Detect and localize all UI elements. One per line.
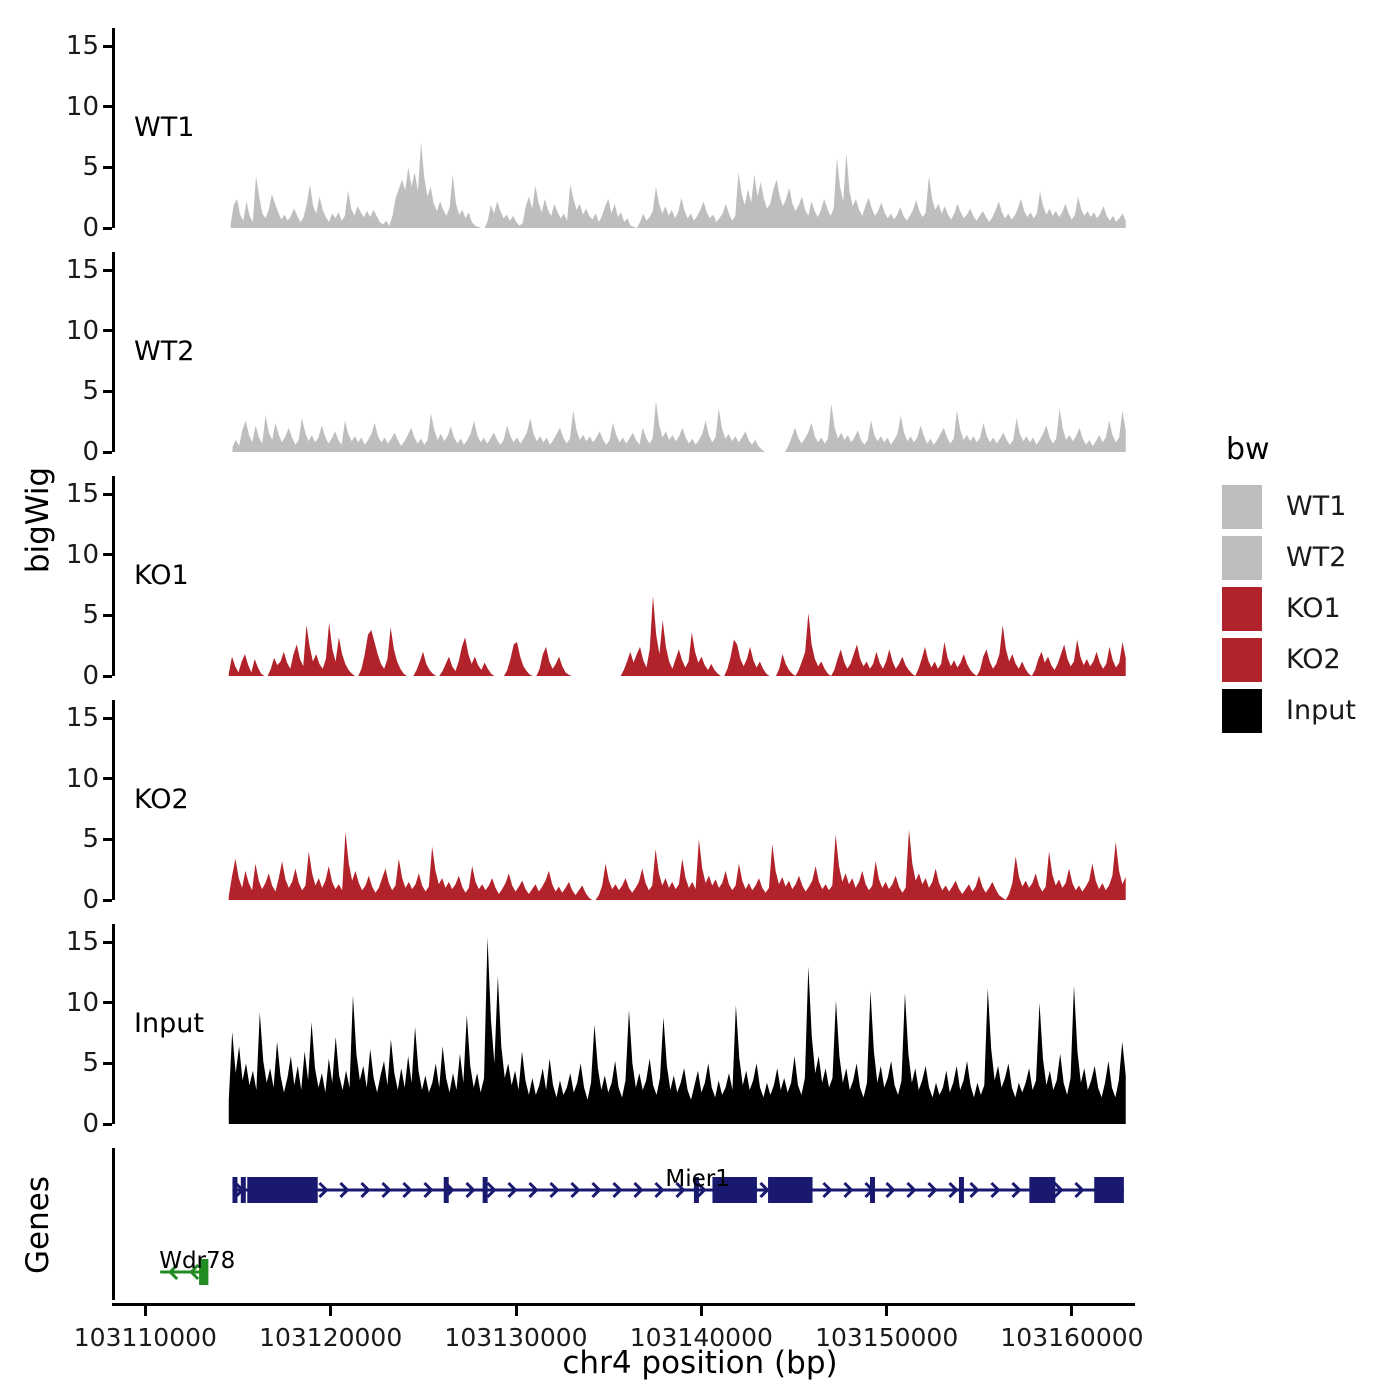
y-tick-label: 10 [66,542,99,568]
gene-label-mier1: Mier1 [665,1166,729,1192]
gene-exon [768,1177,812,1203]
x-tick [329,1306,332,1316]
y-tick-label: 5 [82,154,99,180]
legend-label: KO1 [1286,593,1341,624]
y-tick [103,553,112,556]
x-tick [885,1306,888,1316]
y-tick-label: 5 [82,826,99,852]
signal-area-wt2 [112,252,1135,452]
x-axis-line [112,1303,1135,1306]
genome-browser-figure: bigWig Genes 051015WT1051015WT2051015KO1… [0,0,1400,1400]
y-tick-label: 10 [66,990,99,1016]
y-tick [103,493,112,496]
y-tick-label: 0 [82,887,99,913]
y-tick [103,717,112,720]
signal-area-ko1 [112,476,1135,676]
signal-area-wt1 [112,28,1135,228]
y-tick [103,838,112,841]
gene-exon [870,1177,875,1203]
gene-exon [247,1177,317,1203]
track-panel-wt2: 051015WT2 [112,252,1135,452]
y-tick-label: 15 [66,929,99,955]
legend: bw WT1WT2KO1KO2Input [1222,432,1356,736]
legend-color-swatch [1222,638,1262,682]
legend-label: Input [1286,695,1356,726]
legend-item-wt1[interactable]: WT1 [1222,481,1356,532]
gene-exon [241,1177,246,1203]
y-tick [103,329,112,332]
x-tick [700,1306,703,1316]
legend-label: KO2 [1286,644,1341,675]
y-tick [103,941,112,944]
y-tick [103,451,112,454]
y-tick [103,1001,112,1004]
track-panel-wt1: 051015WT1 [112,28,1135,228]
y-tick [103,269,112,272]
gene-exon [483,1177,488,1203]
legend-item-ko2[interactable]: KO2 [1222,634,1356,685]
y-tick-label: 15 [66,705,99,731]
y-tick [103,227,112,230]
legend-item-ko1[interactable]: KO1 [1222,583,1356,634]
y-tick-label: 10 [66,94,99,120]
y-tick-label: 5 [82,378,99,404]
legend-color-swatch [1222,689,1262,733]
x-tick [144,1306,147,1316]
gene-exon [959,1177,964,1203]
y-tick-label: 10 [66,318,99,344]
legend-item-input[interactable]: Input [1222,685,1356,736]
x-tick [1070,1306,1073,1316]
x-tick [515,1306,518,1316]
legend-label: WT1 [1286,491,1346,522]
genes-panel: Mier1Wdr78 [112,1148,1135,1300]
y-tick [103,45,112,48]
y-axis-title-bigwig: bigWig [18,350,58,690]
legend-item-wt2[interactable]: WT2 [1222,532,1356,583]
y-tick [103,675,112,678]
gene-exon [1029,1177,1055,1203]
y-tick-label: 5 [82,1050,99,1076]
y-tick [103,105,112,108]
y-tick-label: 0 [82,1111,99,1137]
x-axis-title: chr4 position (bp) [0,1345,1400,1381]
y-tick-label: 0 [82,215,99,241]
gene-exon [232,1177,237,1203]
track-panel-input: 051015Input [112,924,1135,1124]
y-tick-label: 15 [66,33,99,59]
y-tick [103,390,112,393]
track-panel-ko2: 051015KO2 [112,700,1135,900]
y-tick-label: 15 [66,481,99,507]
track-panel-ko1: 051015KO1 [112,476,1135,676]
y-tick [103,166,112,169]
legend-color-swatch [1222,587,1262,631]
y-tick [103,614,112,617]
gene-exon [444,1177,449,1203]
legend-color-swatch [1222,485,1262,529]
y-tick-label: 5 [82,602,99,628]
y-tick-label: 0 [82,663,99,689]
y-axis-title-genes: Genes [18,1145,58,1305]
y-tick [103,1123,112,1126]
legend-color-swatch [1222,536,1262,580]
legend-title: bw [1226,432,1356,467]
y-tick-label: 0 [82,439,99,465]
y-tick [103,777,112,780]
gene-models [112,1148,1135,1300]
signal-area-ko2 [112,700,1135,900]
gene-label-wdr78: Wdr78 [159,1248,235,1274]
gene-exon [1094,1177,1124,1203]
y-tick-label: 15 [66,257,99,283]
legend-label: WT2 [1286,542,1346,573]
y-tick-label: 10 [66,766,99,792]
y-tick [103,899,112,902]
y-tick [103,1062,112,1065]
signal-area-input [112,924,1135,1124]
